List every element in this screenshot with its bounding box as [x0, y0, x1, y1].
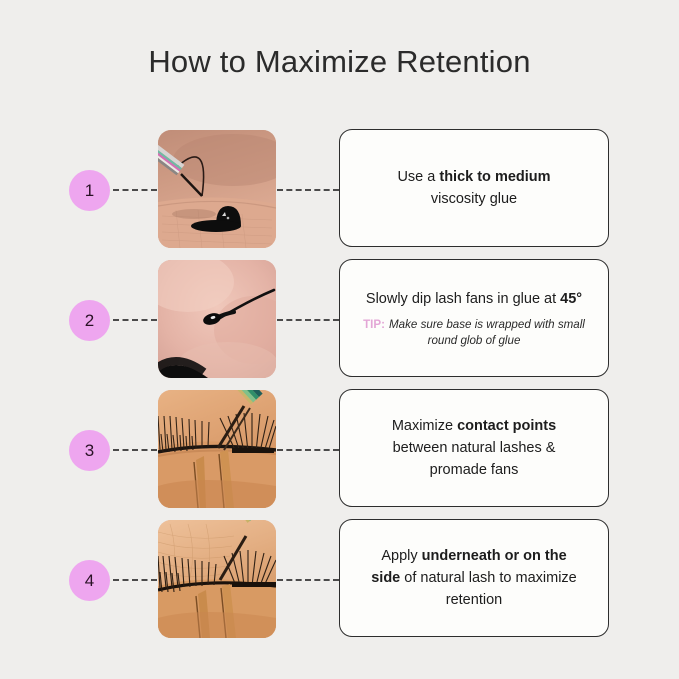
step4-line3: retention [446, 592, 502, 608]
step1-line1-prefix: Use a [397, 169, 439, 185]
steps-list: 1 [0, 125, 679, 645]
contact-points-lash-fan-illustration [158, 390, 276, 508]
step4-line1-prefix: Apply [381, 548, 421, 564]
step2-line1-prefix: Slowly dip lash fans in glue at [366, 291, 560, 307]
lash-fan-dipped-in-glue-illustration [158, 260, 276, 378]
connector-dash-left-3 [113, 449, 157, 451]
step-row-2: 2 [0, 255, 679, 385]
step-number-badge-1: 1 [69, 170, 110, 211]
tip-label: TIP: [363, 318, 385, 331]
connector-dash-left-2 [113, 319, 157, 321]
step1-line1-bold: thick to medium [439, 169, 550, 185]
connector-dash-right-4 [277, 579, 339, 581]
step-image-1 [158, 130, 276, 248]
step-card-text-4: Apply underneath or on the side of natur… [371, 545, 577, 611]
apply-underneath-lash-illustration [158, 520, 276, 638]
step-image-4 [158, 520, 276, 638]
step-image-3 [158, 390, 276, 508]
page-title: How to Maximize Retention [0, 44, 679, 80]
step-row-1: 1 [0, 125, 679, 255]
connector-dash-left-1 [113, 189, 157, 191]
step1-line2: viscosity glue [431, 191, 517, 207]
step-row-3: 3 [0, 385, 679, 515]
step-card-3: Maximize contact points between natural … [339, 389, 609, 507]
step-card-1: Use a thick to medium viscosity glue [339, 129, 609, 247]
step-number-badge-4: 4 [69, 560, 110, 601]
step2-line1-bold: 45° [560, 291, 582, 307]
step-card-text-2: Slowly dip lash fans in glue at 45° [366, 288, 582, 310]
step4-line1-bold: underneath or on the [422, 548, 567, 564]
step4-line2-suffix: of natural lash to maximize [400, 570, 577, 586]
step4-line2-bold: side [371, 570, 400, 586]
step-image-2 [158, 260, 276, 378]
step-number-badge-3: 3 [69, 430, 110, 471]
tip-text: Make sure base is wrapped with small rou… [389, 318, 585, 347]
connector-dash-left-4 [113, 579, 157, 581]
step3-line2: between natural lashes & [393, 440, 556, 456]
connector-dash-right-1 [277, 189, 339, 191]
step3-line1-bold: contact points [457, 418, 556, 434]
step-card-tip-2: TIP:Make sure base is wrapped with small… [356, 317, 592, 349]
step-card-4: Apply underneath or on the side of natur… [339, 519, 609, 637]
step-card-text-1: Use a thick to medium viscosity glue [397, 166, 550, 210]
step-number-badge-2: 2 [69, 300, 110, 341]
step-card-2: Slowly dip lash fans in glue at 45° TIP:… [339, 259, 609, 377]
step3-line1-prefix: Maximize [392, 418, 457, 434]
step-row-4: 4 [0, 515, 679, 645]
connector-dash-right-2 [277, 319, 339, 321]
infographic-page: How to Maximize Retention 1 [0, 0, 679, 679]
step-card-text-3: Maximize contact points between natural … [392, 415, 556, 481]
step3-line3: promade fans [430, 462, 519, 478]
connector-dash-right-3 [277, 449, 339, 451]
tweezer-glue-drop-illustration [158, 130, 276, 248]
